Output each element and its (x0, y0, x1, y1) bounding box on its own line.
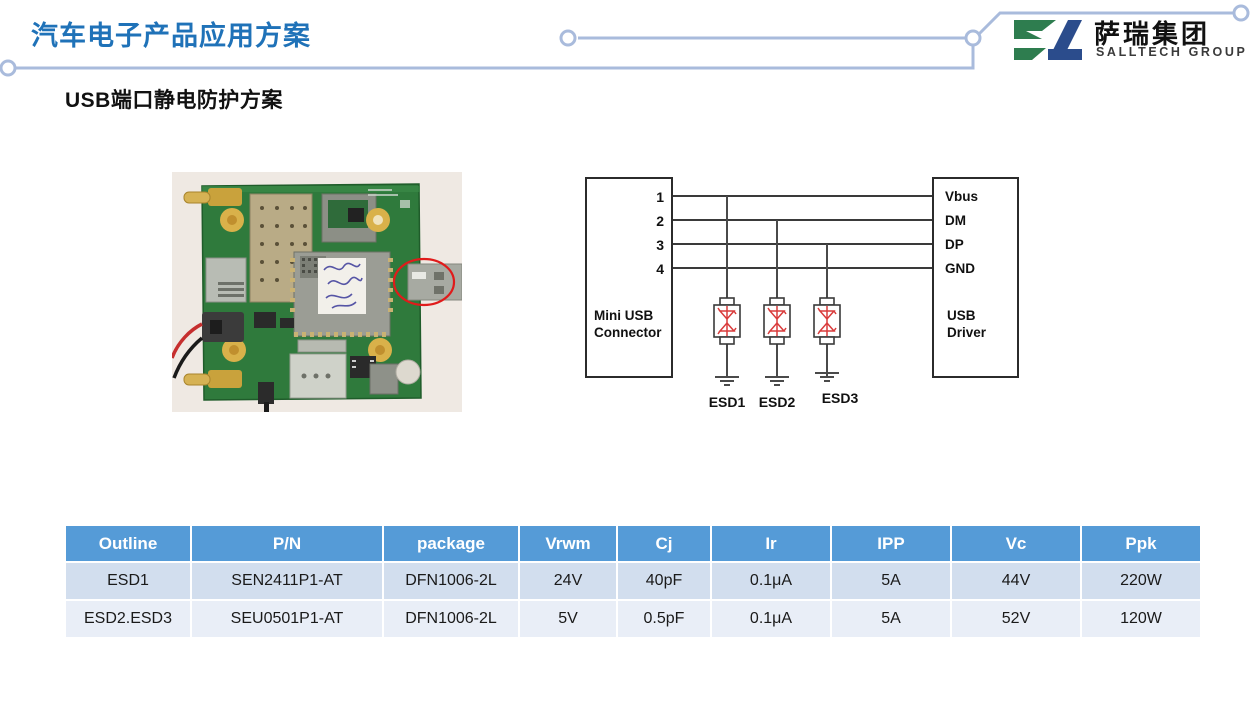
deco-node-far-left (1, 61, 15, 75)
table-header-row: Outline P/N package Vrwm Cj Ir IPP Vc Pp… (66, 526, 1200, 561)
col-header-ppk: Ppk (1082, 526, 1200, 561)
deco-node-mid (966, 31, 980, 45)
col-header-ir: Ir (712, 526, 830, 561)
esd-parameter-table: Outline P/N package Vrwm Cj Ir IPP Vc Pp… (64, 524, 1202, 639)
cell-ppk: 220W (1082, 563, 1200, 599)
usb-driver-label-line2: Driver (947, 325, 987, 340)
signal-label-vbus: Vbus (945, 189, 978, 204)
logo-name-en: SALLTECH GROUP (1096, 45, 1247, 59)
usb-driver-block: Vbus DM DP GND USB Driver (933, 178, 1018, 377)
col-header-vc: Vc (952, 526, 1080, 561)
signal-label-dm: DM (945, 213, 966, 228)
cell-package: DFN1006-2L (384, 563, 518, 599)
section-subtitle: USB端口静电防护方案 (65, 84, 283, 114)
page-title: 汽车电子产品应用方案 (31, 14, 311, 53)
slide-root: 汽车电子产品应用方案 USB端口静电防护方案 萨瑞集团 SALLTECH GRO… (0, 0, 1255, 706)
cell-cj: 40pF (618, 563, 710, 599)
col-header-cj: Cj (618, 526, 710, 561)
usb-driver-label-line1: USB (947, 308, 976, 323)
cell-package: DFN1006-2L (384, 601, 518, 637)
cell-ipp: 5A (832, 563, 950, 599)
table-row: ESD1 SEN2411P1-AT DFN1006-2L 24V 40pF 0.… (66, 563, 1200, 599)
salltech-logo-mark (1012, 18, 1086, 62)
ground-symbol (765, 377, 789, 385)
esd3-label: ESD3 (822, 390, 859, 406)
mini-usb-label-line2: Connector (594, 325, 662, 340)
cell-ppk: 120W (1082, 601, 1200, 637)
cell-outline: ESD1 (66, 563, 190, 599)
esd-tap-lines (727, 196, 827, 377)
col-header-package: package (384, 526, 518, 561)
signal-label-dp: DP (945, 237, 964, 252)
cell-ir: 0.1μA (712, 601, 830, 637)
table-row: ESD2.ESD3 SEU0501P1-AT DFN1006-2L 5V 0.5… (66, 601, 1200, 637)
col-header-outline: Outline (66, 526, 190, 561)
col-header-vrwm: Vrwm (520, 526, 616, 561)
cell-cj: 0.5pF (618, 601, 710, 637)
pcb-photo (172, 172, 462, 412)
signal-label-gnd: GND (945, 261, 975, 276)
cell-vrwm: 24V (520, 563, 616, 599)
ground-symbol (715, 377, 739, 385)
cell-pn: SEN2411P1-AT (192, 563, 382, 599)
cell-ir: 0.1μA (712, 563, 830, 599)
col-header-pn: P/N (192, 526, 382, 561)
esd2-label: ESD2 (759, 394, 796, 410)
cell-vrwm: 5V (520, 601, 616, 637)
deco-node-left (561, 31, 575, 45)
esd-device-3: ESD3 (814, 298, 858, 406)
mini-usb-label-line1: Mini USB (594, 308, 653, 323)
pin-label-4: 4 (656, 261, 664, 277)
cell-vc: 52V (952, 601, 1080, 637)
usb-esd-schematic: 1 2 3 4 Mini USB Connector Vbus DM DP GN… (570, 165, 1040, 420)
pin-label-2: 2 (656, 213, 664, 229)
mini-usb-connector-block: 1 2 3 4 Mini USB Connector (586, 178, 672, 377)
cell-outline: ESD2.ESD3 (66, 601, 190, 637)
pcb-photo-image (172, 172, 462, 412)
pin-label-1: 1 (656, 189, 664, 205)
cell-ipp: 5A (832, 601, 950, 637)
esd1-label: ESD1 (709, 394, 746, 410)
pin-label-3: 3 (656, 237, 664, 253)
bus-lines (672, 196, 933, 268)
cell-vc: 44V (952, 563, 1080, 599)
company-logo: 萨瑞集团 SALLTECH GROUP (1012, 12, 1244, 70)
col-header-ipp: IPP (832, 526, 950, 561)
cell-pn: SEU0501P1-AT (192, 601, 382, 637)
